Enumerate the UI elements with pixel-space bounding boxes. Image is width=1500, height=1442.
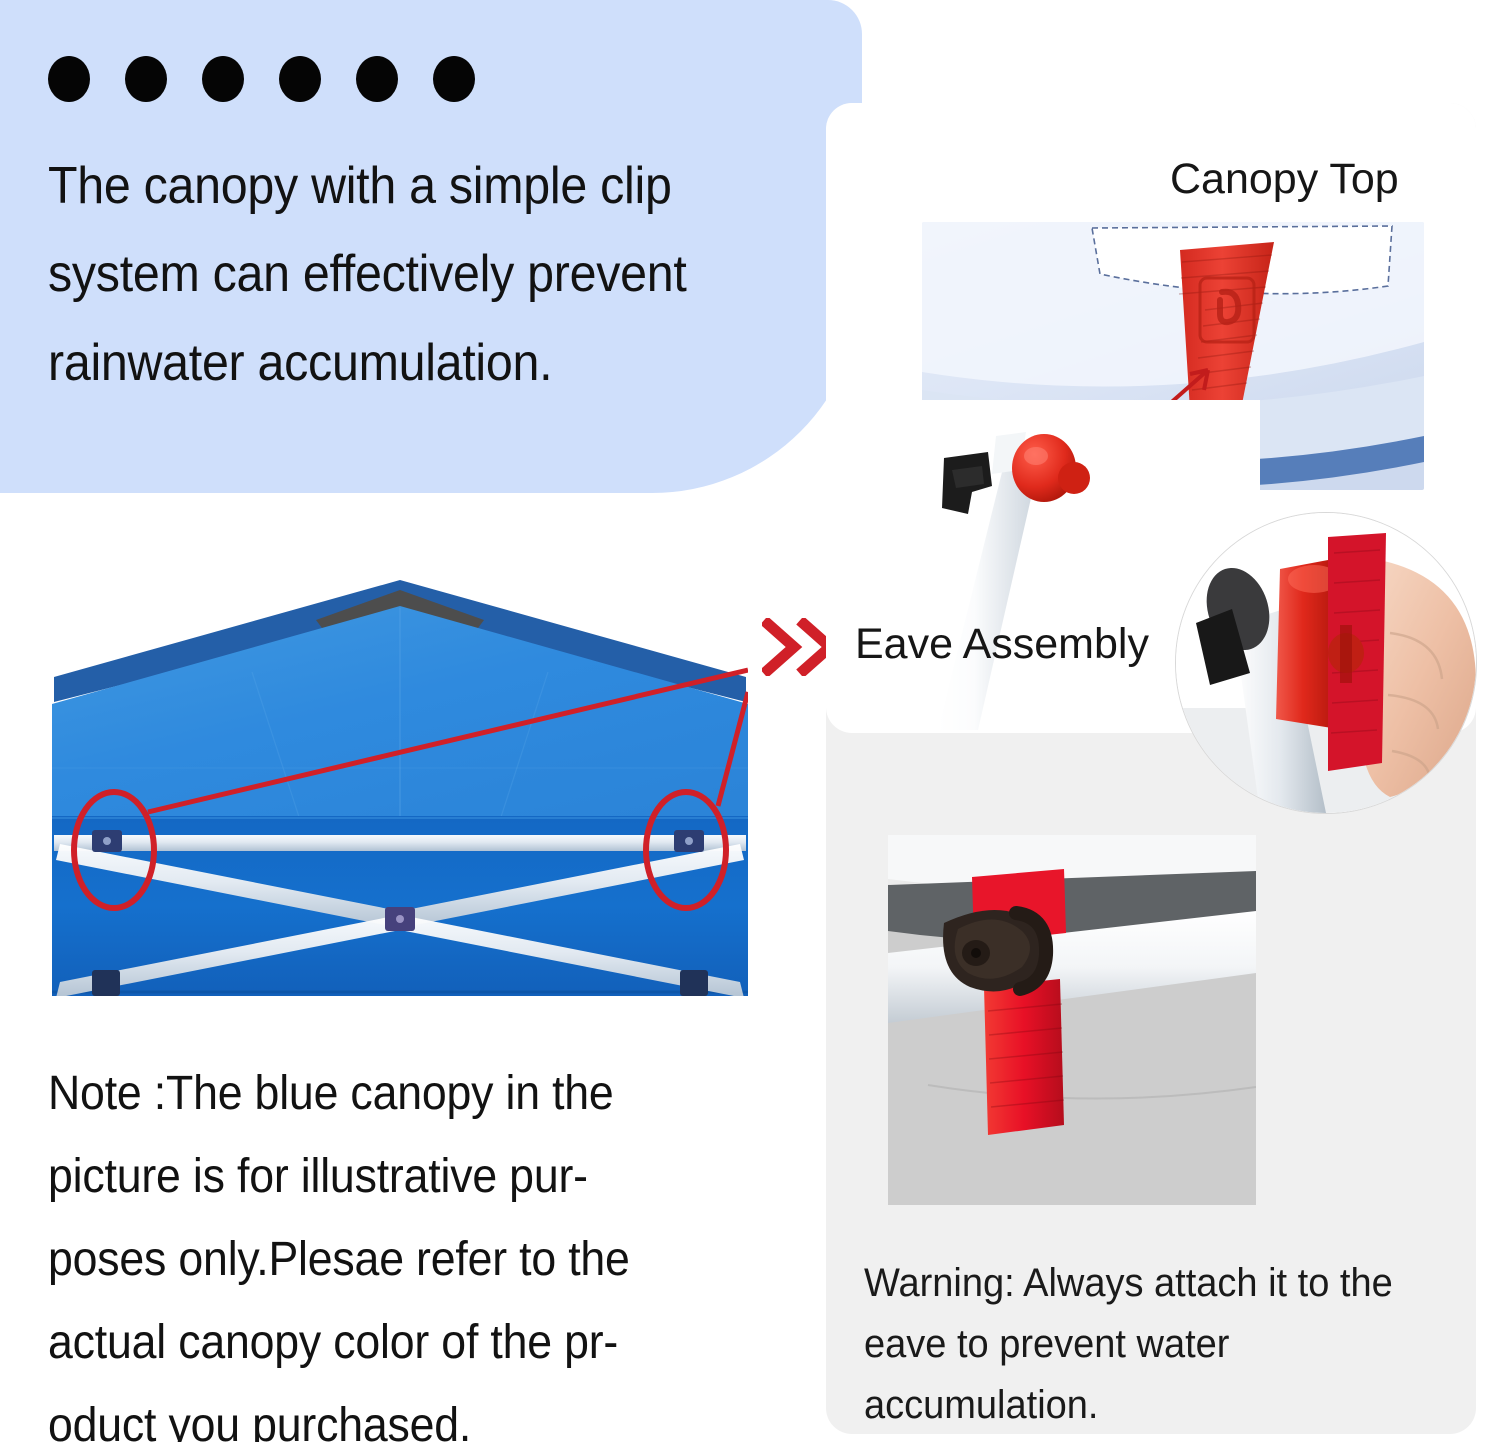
clip-detail-circle-photo: [1175, 512, 1477, 814]
dot-icon: [125, 56, 167, 102]
dot-icon: [202, 56, 244, 102]
decorative-dots-row: [48, 56, 475, 102]
warning-note: Warning: Always attach it to the eave to…: [864, 1253, 1406, 1435]
disclaimer-note: Note :The blue canopy in the picture is …: [48, 1052, 699, 1442]
canopy-photo-graphic: [52, 562, 748, 996]
dot-icon: [356, 56, 398, 102]
dot-icon: [48, 56, 90, 102]
infographic-page: The canopy with a simple clip system can…: [0, 0, 1500, 1442]
feature-callout-box: The canopy with a simple clip system can…: [0, 0, 862, 493]
label-eave-assembly: Eave Assembly: [855, 620, 1149, 669]
clip-detail-graphic: [1176, 513, 1476, 813]
dot-icon: [433, 56, 475, 102]
strap-buckle-photo: [888, 835, 1256, 1205]
feature-headline: The canopy with a simple clip system can…: [48, 142, 792, 407]
strap-photo-graphic: [888, 835, 1256, 1205]
canopy-underside-photo: [52, 562, 748, 996]
dot-icon: [279, 56, 321, 102]
label-canopy-top: Canopy Top: [1170, 155, 1399, 204]
